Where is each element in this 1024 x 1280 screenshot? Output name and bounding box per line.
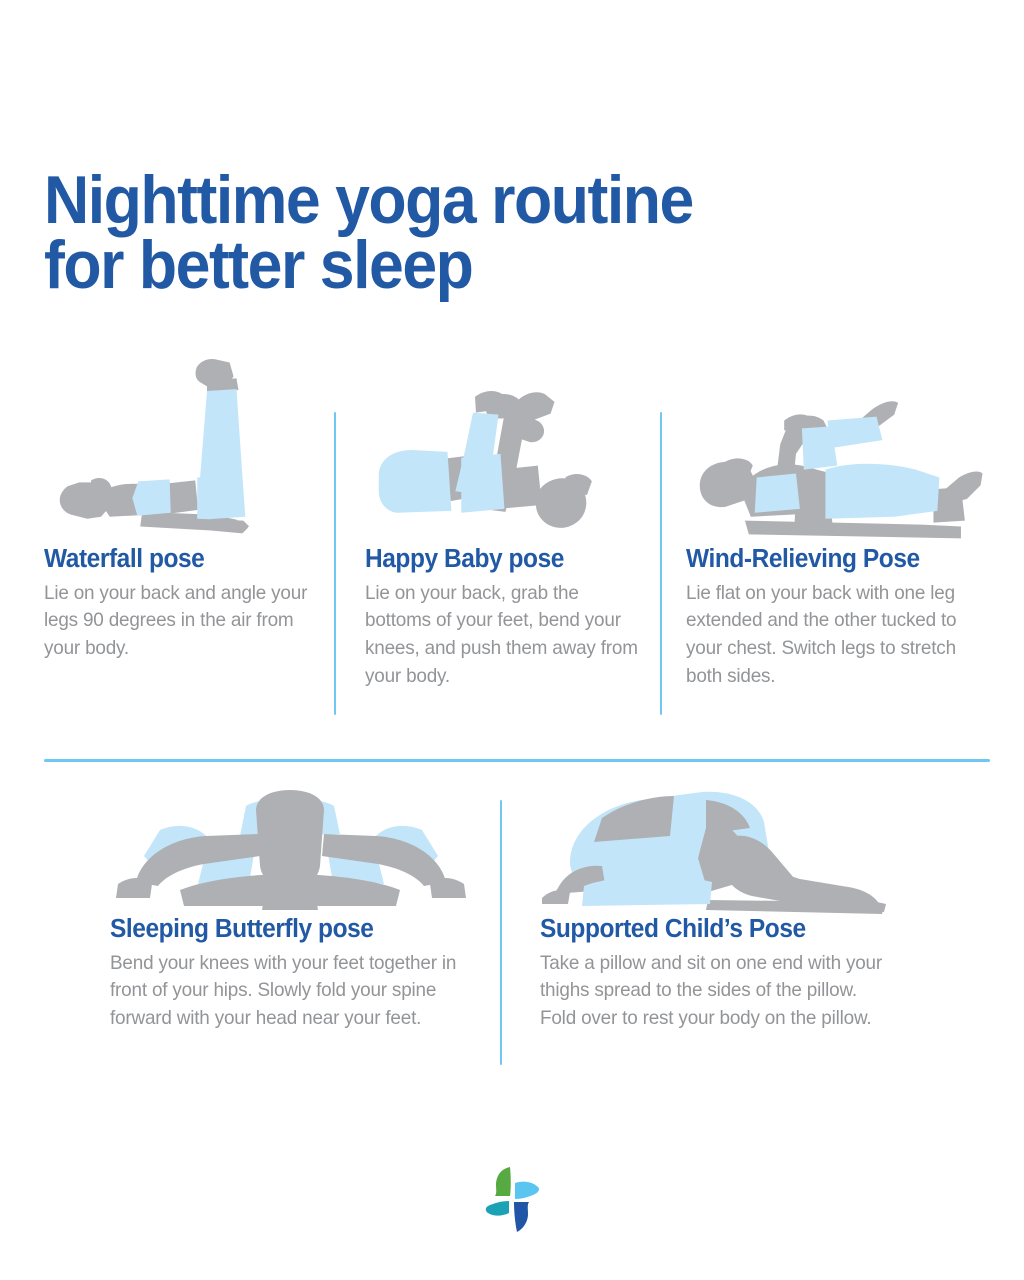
happy-baby-pose-figure (365, 350, 648, 545)
pose-heading-wind-relieving: Wind-Relieving Pose (686, 545, 978, 574)
pose-body-wind-relieving: Lie flat on your back with one leg exten… (686, 580, 981, 691)
pose-body-supported-childs: Take a pillow and sit on one end with yo… (540, 950, 889, 1033)
horizontal-divider (44, 759, 990, 762)
pose-body-happy-baby: Lie on your back, grab the bottoms of yo… (365, 580, 639, 691)
vertical-divider-1 (334, 412, 336, 715)
pose-row-top: Waterfall pose Lie on your back and angl… (44, 350, 990, 690)
supported-childs-pose-figure (540, 790, 900, 915)
pose-card-waterfall: Waterfall pose Lie on your back and angl… (44, 350, 329, 663)
vertical-divider-2 (660, 412, 662, 715)
pose-row-bottom: Sleeping Butterfly pose Bend your knees … (110, 790, 950, 1033)
four-petal-cross-logo (480, 1163, 544, 1235)
pose-card-sleeping-butterfly: Sleeping Butterfly pose Bend your knees … (110, 790, 470, 1033)
page-title: Nighttime yoga routine for better sleep (44, 168, 872, 299)
waterfall-pose-figure (44, 350, 329, 545)
pose-heading-supported-childs: Supported Child’s Pose (540, 915, 886, 944)
infographic-page: Nighttime yoga routine for better sleep (0, 0, 1024, 1280)
pose-body-waterfall: Lie on your back and angle your legs 90 … (44, 580, 320, 663)
pose-card-happy-baby: Happy Baby pose Lie on your back, grab t… (365, 350, 648, 690)
pose-body-sleeping-butterfly: Bend your knees with your feet together … (110, 950, 459, 1033)
title-block: Nighttime yoga routine for better sleep (44, 168, 944, 299)
wind-relieving-pose-figure (686, 350, 990, 545)
pose-heading-waterfall: Waterfall pose (44, 545, 317, 574)
pose-heading-happy-baby: Happy Baby pose (365, 545, 637, 574)
pose-heading-sleeping-butterfly: Sleeping Butterfly pose (110, 915, 456, 944)
pose-card-supported-childs: Supported Child’s Pose Take a pillow and… (540, 790, 900, 1033)
vertical-divider-3 (500, 800, 502, 1065)
sleeping-butterfly-pose-figure (110, 790, 470, 915)
pose-card-wind-relieving: Wind-Relieving Pose Lie flat on your bac… (686, 350, 990, 690)
